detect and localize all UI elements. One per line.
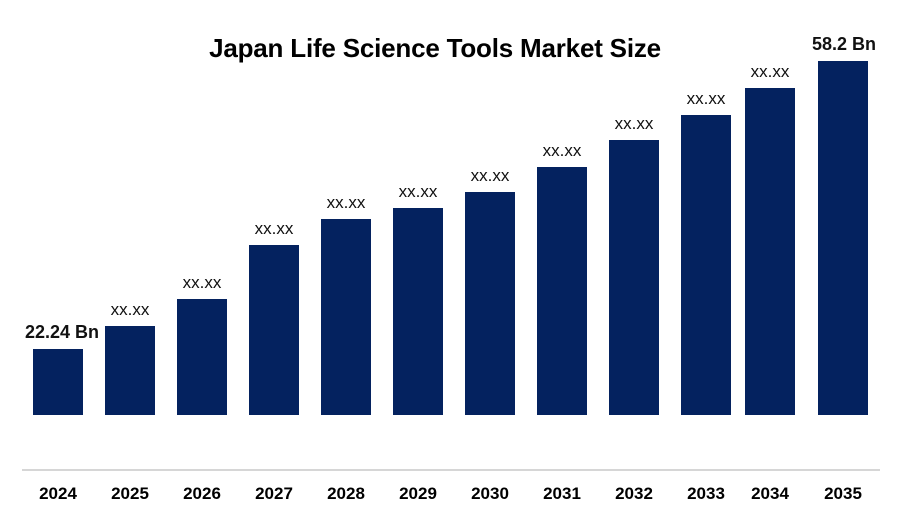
bar-rect[interactable] xyxy=(105,326,155,415)
x-tick-label-2035: 2035 xyxy=(808,484,878,504)
bar-rect[interactable] xyxy=(681,115,731,415)
bar-chart: Japan Life Science Tools Market Size 22.… xyxy=(0,0,900,525)
bar-value-label: 58.2 Bn xyxy=(812,34,876,55)
bar-value-label: xx.xx xyxy=(543,141,582,161)
bar-rect[interactable] xyxy=(465,192,515,415)
bar-value-label: xx.xx xyxy=(399,182,438,202)
bar-rect[interactable] xyxy=(177,299,227,415)
bar-value-label: xx.xx xyxy=(687,89,726,109)
x-tick-label-2026: 2026 xyxy=(167,484,237,504)
x-tick-label-2032: 2032 xyxy=(599,484,669,504)
bar-value-label: xx.xx xyxy=(111,300,150,320)
x-axis-baseline xyxy=(22,469,880,471)
bar-rect[interactable] xyxy=(249,245,299,415)
x-tick-label-2030: 2030 xyxy=(455,484,525,504)
bar-rect[interactable] xyxy=(745,88,795,415)
bar-rect[interactable] xyxy=(818,61,868,415)
x-tick-label-2033: 2033 xyxy=(671,484,741,504)
bar-value-label: xx.xx xyxy=(615,114,654,134)
x-tick-label-2031: 2031 xyxy=(527,484,597,504)
bar-rect[interactable] xyxy=(609,140,659,415)
bar-value-label: 22.24 Bn xyxy=(25,322,99,343)
x-tick-label-2024: 2024 xyxy=(23,484,93,504)
plot-area: 22.24 Bn xx.xx xx.xx xx.xx xx.xx xx.xx x… xyxy=(0,0,900,470)
bar-rect[interactable] xyxy=(33,349,83,415)
x-tick-label-2034: 2034 xyxy=(735,484,805,504)
x-tick-label-2029: 2029 xyxy=(383,484,453,504)
bar-value-label: xx.xx xyxy=(183,273,222,293)
bar-rect[interactable] xyxy=(321,219,371,415)
bar-rect[interactable] xyxy=(393,208,443,415)
bar-value-label: xx.xx xyxy=(255,219,294,239)
bar-rect[interactable] xyxy=(537,167,587,415)
x-tick-label-2025: 2025 xyxy=(95,484,165,504)
x-tick-label-2028: 2028 xyxy=(311,484,381,504)
bar-value-label: xx.xx xyxy=(327,193,366,213)
bar-value-label: xx.xx xyxy=(751,62,790,82)
x-tick-label-2027: 2027 xyxy=(239,484,309,504)
bar-value-label: xx.xx xyxy=(471,166,510,186)
